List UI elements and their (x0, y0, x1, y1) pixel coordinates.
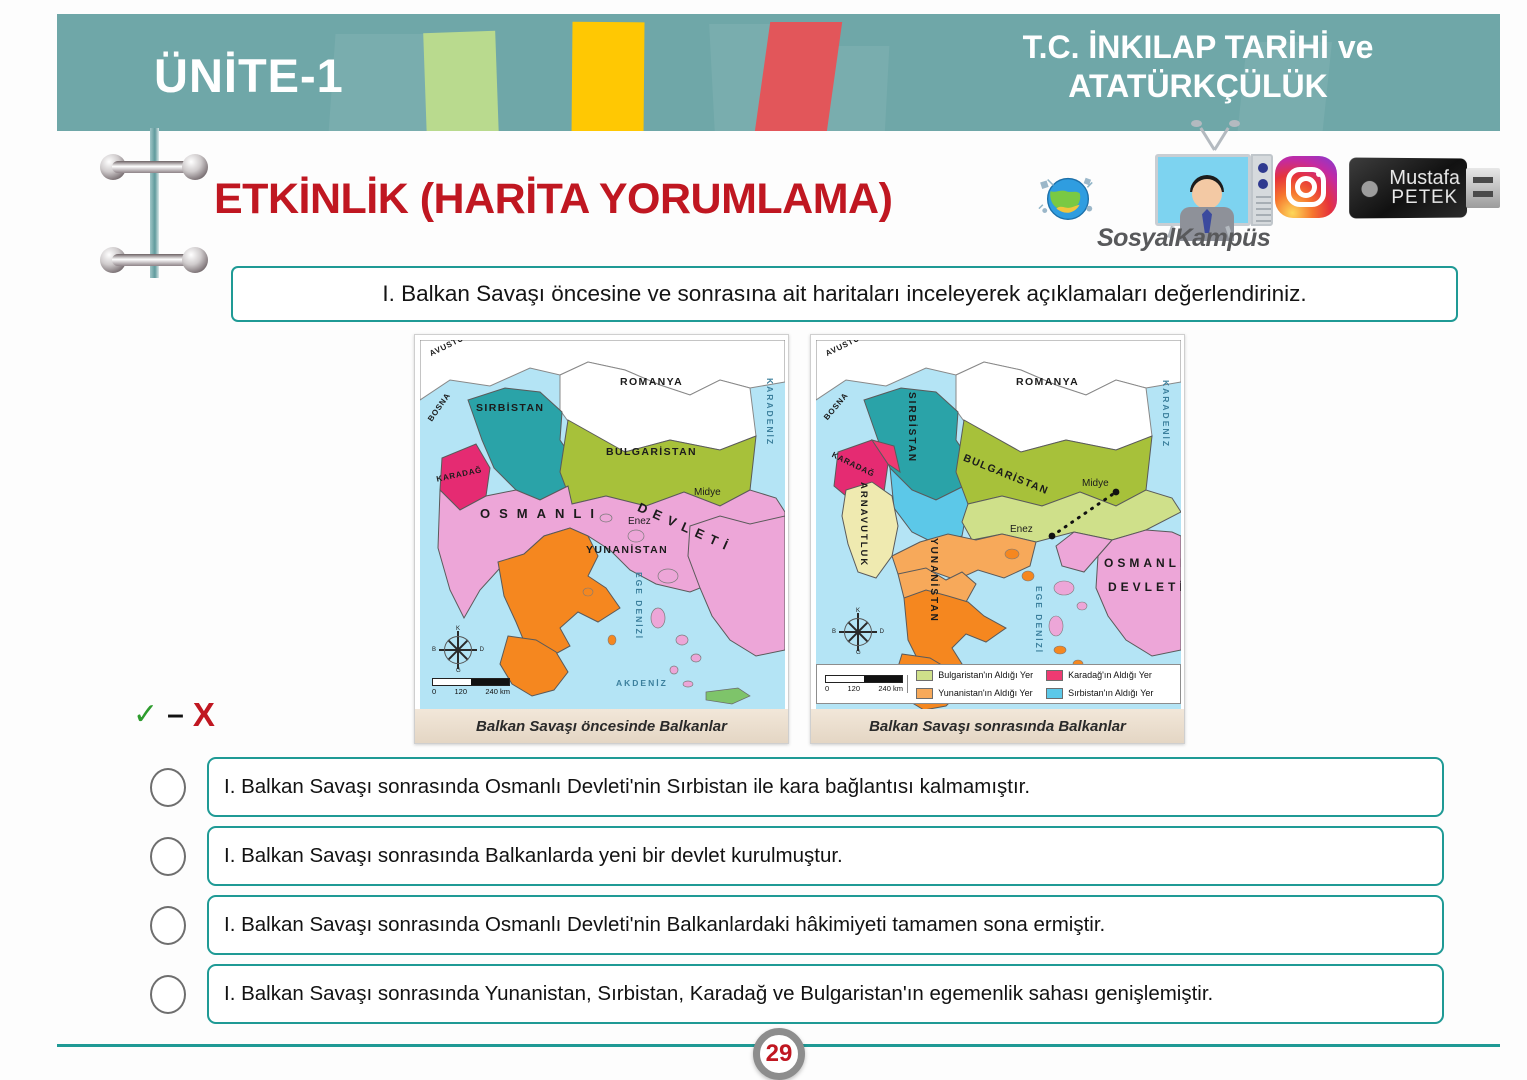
option-text-3: I. Balkan Savaşı sonrasında Osmanlı Devl… (224, 913, 1105, 937)
header-paper-green-icon (423, 31, 499, 131)
scale-tick-2: 240 km (485, 687, 510, 696)
option-box-2[interactable]: I. Balkan Savaşı sonrasında Balkanlarda … (207, 826, 1444, 886)
legend-item: Yunanistan'ın Aldığı Yer (916, 684, 1046, 702)
map-scalebar: 0 120 240 km (432, 678, 510, 696)
usb-label-line1: Mustafa (1384, 168, 1465, 189)
option-text-4: I. Balkan Savaşı sonrasında Yunanistan, … (224, 982, 1213, 1006)
slide-root: ÜNİTE-1 T.C. İNKILAP TARİHİ ve ATATÜRKÇÜ… (0, 0, 1527, 1080)
scale-tick-1: 120 (455, 687, 468, 696)
unit-label: ÜNİTE-1 (154, 52, 344, 99)
usb-label-line2: PETEK (1384, 188, 1465, 208)
cross-icon: X (193, 698, 215, 731)
legend-swatch-montenegro (1046, 670, 1063, 681)
answer-key-legend: ✓ – X (133, 698, 215, 731)
instagram-icon[interactable] (1275, 156, 1337, 218)
check-icon: ✓ (133, 700, 158, 730)
page-title: ETKİNLİK (HARİTA YORUMLAMA) (214, 175, 892, 224)
map-caption-after: Balkan Savaşı sonrasında Balkanlar (811, 709, 1184, 743)
option-bubble-1[interactable] (150, 768, 186, 807)
option-bubble-3[interactable] (150, 906, 186, 945)
scale-tick-0: 0 (825, 684, 829, 693)
legend-label-bulgaria: Bulgaristan'ın Aldığı Yer (938, 670, 1033, 680)
header-paper-red-icon (754, 22, 842, 131)
option-text-2: I. Balkan Savaşı sonrasında Balkanlarda … (224, 844, 843, 868)
scale-tick-1: 120 (848, 684, 861, 693)
map-canvas-after: AVUSTURYA-MACARİSTAN BOSNA SIRBİSTAN KAR… (816, 340, 1181, 711)
binder-ring-icon (100, 154, 208, 180)
option-bubble-4[interactable] (150, 975, 186, 1014)
map-scalebar: 0 120 240 km (825, 675, 903, 693)
map-svg-after (816, 340, 1181, 711)
scale-tick-2: 240 km (878, 684, 903, 693)
option-row: I. Balkan Savaşı sonrasında Yunanistan, … (150, 964, 1450, 1033)
globe-icon (1037, 166, 1099, 228)
course-title-line2: ATATÜRKÇÜLÜK (938, 67, 1458, 106)
option-box-3[interactable]: I. Balkan Savaşı sonrasında Osmanlı Devl… (207, 895, 1444, 955)
option-text-1: I. Balkan Savaşı sonrasında Osmanlı Devl… (224, 775, 1030, 799)
map-caption-before: Balkan Savaşı öncesinde Balkanlar (415, 709, 788, 743)
scale-tick-0: 0 (432, 687, 436, 696)
legend-swatch-serbia (1046, 688, 1063, 699)
page-number-badge: 29 (753, 1028, 805, 1080)
option-box-4[interactable]: I. Balkan Savaşı sonrasında Yunanistan, … (207, 964, 1444, 1024)
legend-item: Sırbistan'ın Aldığı Yer (1046, 684, 1176, 702)
instruction-box: I. Balkan Savaşı öncesine ve sonrasına a… (231, 266, 1458, 322)
legend-label-montenegro: Karadağ'ın Aldığı Yer (1068, 670, 1152, 680)
map-before-war: AVUSTURYA-MACARİSTAN BOSNA SIRBİSTAN KAR… (414, 334, 789, 744)
option-row: I. Balkan Savaşı sonrasında Osmanlı Devl… (150, 757, 1450, 826)
options-list: I. Balkan Savaşı sonrasında Osmanlı Devl… (150, 757, 1450, 1033)
antenna-icon (1185, 124, 1245, 148)
compass-icon: K G B D (838, 612, 878, 652)
legend-item: Bulgaristan'ın Aldığı Yer (916, 666, 1046, 684)
brand-name: SosyalKampüs (1097, 224, 1270, 253)
header-banner: ÜNİTE-1 T.C. İNKILAP TARİHİ ve ATATÜRKÇÜ… (57, 14, 1500, 131)
usb-icon: Mustafa PETEK (1350, 152, 1500, 224)
option-box-1[interactable]: I. Balkan Savaşı sonrasında Osmanlı Devl… (207, 757, 1444, 817)
dash-separator: – (167, 700, 184, 730)
tv-icon (1155, 142, 1275, 234)
page-number: 29 (766, 1040, 793, 1068)
legend-label-serbia: Sırbistan'ın Aldığı Yer (1068, 688, 1153, 698)
option-row: I. Balkan Savaşı sonrasında Osmanlı Devl… (150, 895, 1450, 964)
map-legend: 0 120 240 km Bulgaristan'ın Aldığı Yer K… (816, 664, 1181, 704)
course-title: T.C. İNKILAP TARİHİ ve ATATÜRKÇÜLÜK (938, 28, 1458, 106)
legend-item: Karadağ'ın Aldığı Yer (1046, 666, 1176, 684)
legend-swatch-bulgaria (916, 670, 933, 681)
legend-label-greece: Yunanistan'ın Aldığı Yer (938, 688, 1032, 698)
maps-container: AVUSTURYA-MACARİSTAN BOSNA SIRBİSTAN KAR… (414, 334, 1184, 744)
option-row: I. Balkan Savaşı sonrasında Balkanlarda … (150, 826, 1450, 895)
header-paper-yellow-icon (571, 22, 644, 131)
option-bubble-2[interactable] (150, 837, 186, 876)
legend-swatch-greece (916, 688, 933, 699)
instruction-text: I. Balkan Savaşı öncesine ve sonrasına a… (382, 281, 1306, 307)
branding-logos: SosyalKampüs Mustafa PETEK (1035, 138, 1500, 250)
compass-icon: K G B D (438, 630, 478, 670)
map-after-war: AVUSTURYA-MACARİSTAN BOSNA SIRBİSTAN KAR… (810, 334, 1185, 744)
course-title-line1: T.C. İNKILAP TARİHİ ve (1023, 29, 1374, 65)
map-canvas-before: AVUSTURYA-MACARİSTAN BOSNA SIRBİSTAN KAR… (420, 340, 785, 711)
binder-ring-icon (100, 247, 208, 273)
